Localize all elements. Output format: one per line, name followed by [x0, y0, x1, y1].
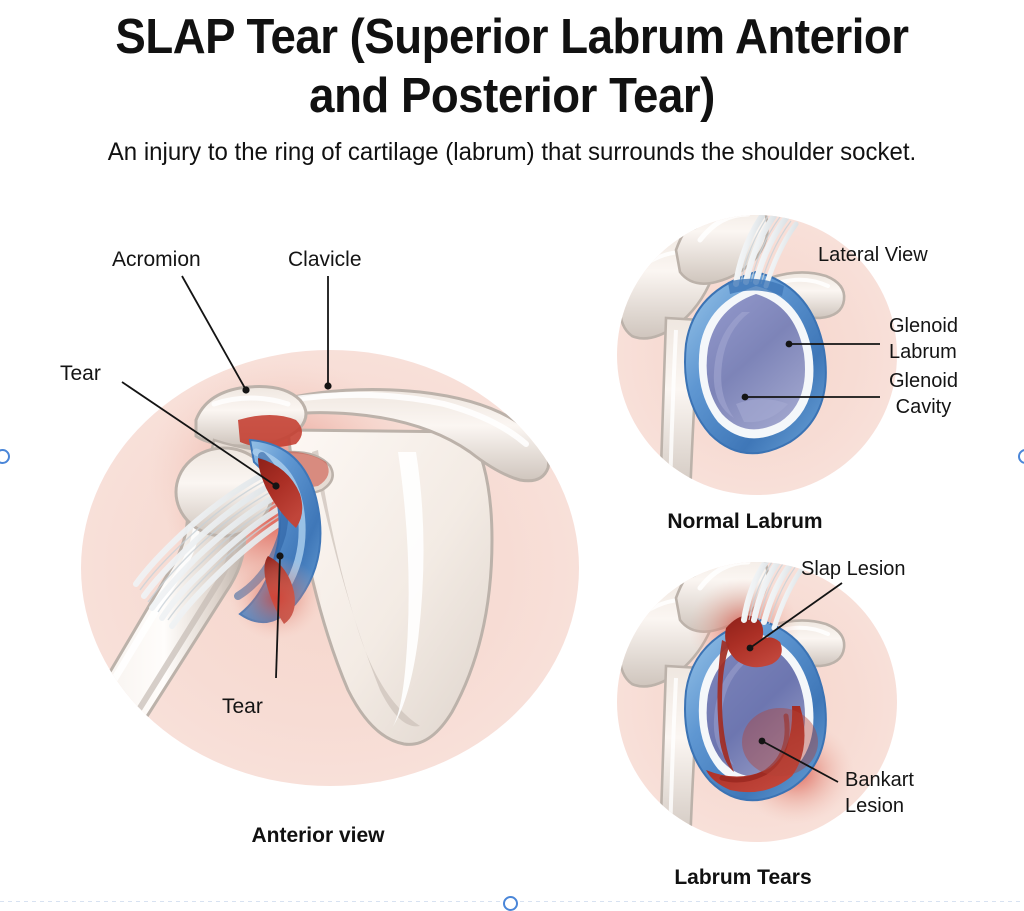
- label-acromion: Acromion: [112, 247, 201, 272]
- label-bankart-lesion: Bankart Lesion: [845, 767, 914, 819]
- page-title: SLAP Tear (Superior Labrum Anterior and …: [36, 8, 988, 126]
- normal-labrum-leader-dots: [742, 341, 793, 401]
- caption-labrum-tears: Labrum Tears: [665, 866, 821, 890]
- anterior-leader-lines: [122, 276, 328, 678]
- resize-handle-right[interactable]: [1018, 449, 1024, 464]
- anterior-leader-dots: [242, 382, 331, 559]
- label-slap-lesion: Slap Lesion: [801, 557, 906, 582]
- caption-anterior-view: Anterior view: [238, 824, 398, 848]
- label-tear-inferior: Tear: [222, 694, 263, 719]
- label-glenoid-labrum: Glenoid Labrum: [889, 313, 958, 365]
- normal-labrum-group: [617, 197, 897, 498]
- anterior-view-group: [54, 350, 580, 799]
- label-glenoid-cavity: Glenoid Cavity: [889, 368, 958, 420]
- caption-normal-labrum: Normal Labrum: [655, 510, 835, 534]
- illustration-canvas: SLAP Tear (Superior Labrum Anterior and …: [0, 0, 1024, 908]
- labrum-tears-leader-lines: [750, 583, 842, 782]
- normal-labrum-leader-lines: [745, 344, 880, 397]
- resize-handle-bottom[interactable]: [503, 896, 518, 911]
- resize-handle-left[interactable]: [0, 449, 10, 464]
- label-lateral-view: Lateral View: [818, 243, 928, 268]
- page-subtitle: An injury to the ring of cartilage (labr…: [20, 136, 1003, 168]
- label-tear-superior: Tear: [60, 361, 101, 386]
- labrum-tears-leader-dots: [747, 645, 766, 745]
- label-clavicle: Clavicle: [288, 247, 362, 272]
